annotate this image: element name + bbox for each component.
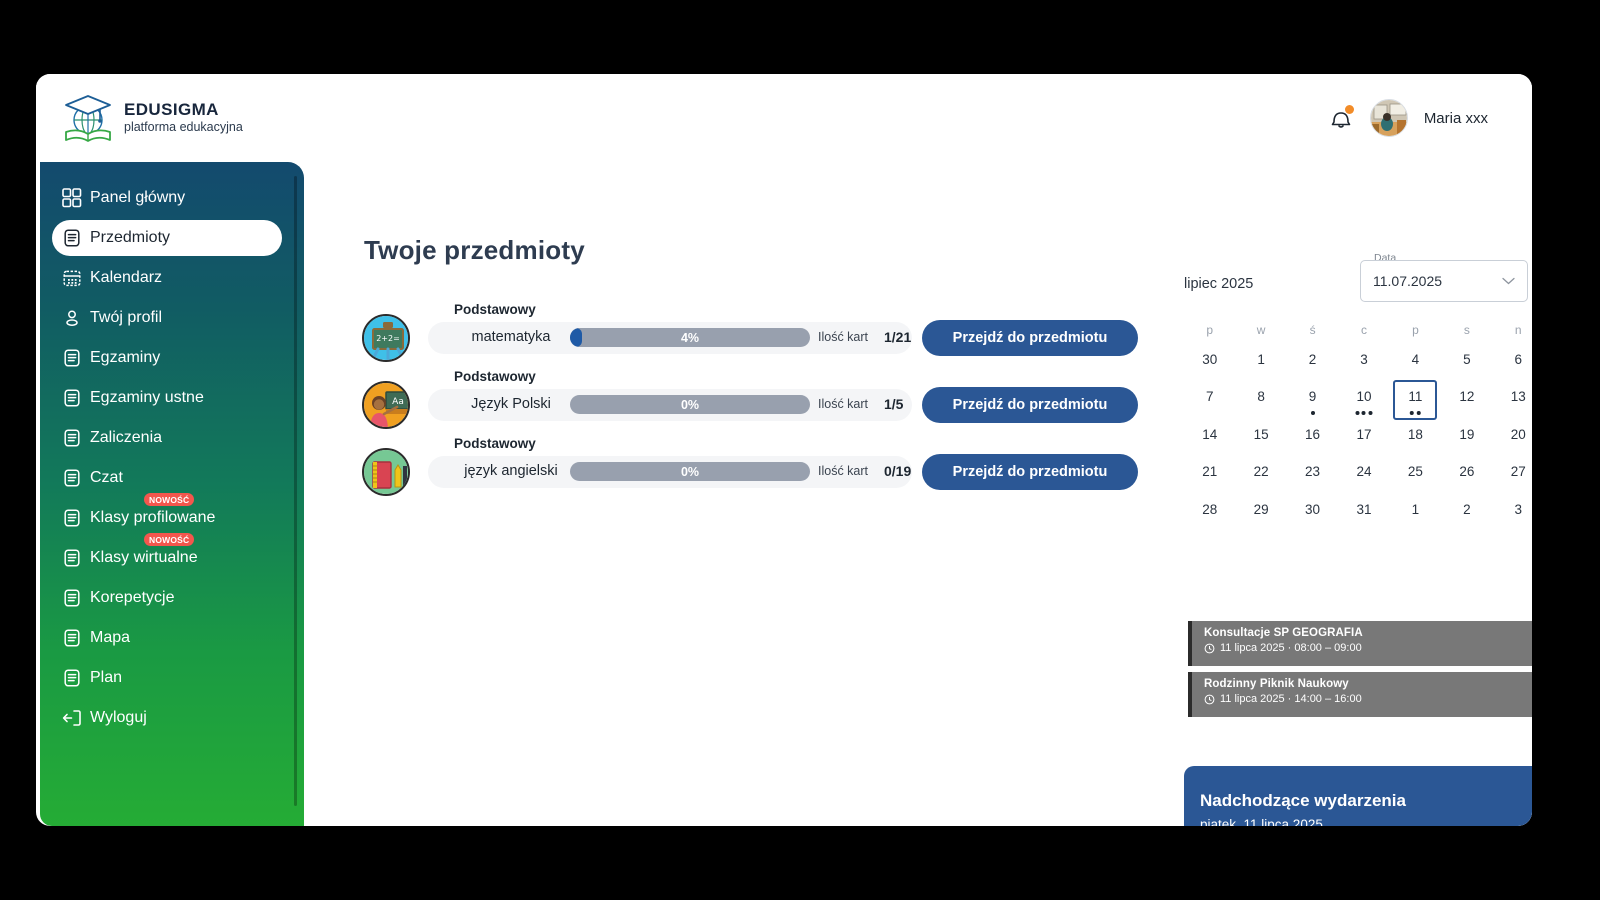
upcoming-events-date: piątek, 11 lipca 2025 [1200,817,1532,826]
sidebar-item-label: Plan [90,669,122,687]
chevron-down-icon [1502,277,1515,285]
sidebar-item-label: Egzaminy [90,349,160,367]
calendar-day-number: 30 [1202,352,1217,367]
calendar-day-number: 30 [1305,502,1320,517]
calendar-day[interactable]: 8 [1235,382,1286,420]
calendar-day[interactable]: 23 [1287,457,1338,495]
calendar-day-number: 1 [1412,502,1420,517]
subject-icon [362,448,410,496]
go-to-subject-button[interactable]: Przejdź do przedmiotu [922,320,1138,356]
event-card[interactable]: Rodzinny Piknik Naukowy11 lipca 2025 · 1… [1188,672,1532,717]
go-to-subject-button[interactable]: Przejdź do przedmiotu [922,454,1138,490]
subject-row: PodstawowyAaJęzyk Polski0%Ilość kart1/5P… [362,369,1152,436]
calendar-day-number: 31 [1356,502,1371,517]
sidebar-item-egzaminy[interactable]: Egzaminy [52,340,282,376]
calendar-day[interactable]: 4 [1390,344,1441,382]
calendar-event-dot [1362,411,1366,415]
calendar-day-number: 10 [1356,389,1371,404]
document-icon [62,668,82,688]
header-actions: Maria xxx [1328,99,1532,137]
sidebar-item-wyloguj[interactable]: Wyloguj [52,700,282,736]
subject-icon: Aa [362,381,410,429]
calendar-day[interactable]: 25 [1390,457,1441,495]
calendar-day-number: 28 [1202,502,1217,517]
event-card-list: Konsultacje SP GEOGRAFIA11 lipca 2025 · … [1188,621,1532,723]
calendar-weekday-header: p [1184,316,1235,344]
calendar-day-number: 17 [1356,427,1371,442]
upcoming-events-panel[interactable]: Nadchodzące wydarzenia piątek, 11 lipca … [1184,766,1532,826]
calendar-day-number: 12 [1459,389,1474,404]
upcoming-events-title: Nadchodzące wydarzenia [1200,791,1532,811]
document-icon [62,508,82,528]
calendar-event-dot [1417,411,1421,415]
calendar-day-number: 22 [1254,464,1269,479]
blackboard-math-icon: 2+2= [364,316,410,362]
page-title: Twoje przedmioty [364,235,585,266]
calendar-day[interactable]: 19 [1441,419,1492,457]
calendar-day[interactable]: 1 [1390,494,1441,532]
calendar-day[interactable]: 17 [1338,419,1389,457]
sidebar-item-label: Twój profil [90,309,162,327]
event-title: Konsultacje SP GEOGRAFIA [1204,627,1532,639]
calendar-day[interactable]: 3 [1338,344,1389,382]
sidebar-item-klasy-profilowane[interactable]: Klasy profilowaneNOWOŚĆ [52,500,282,536]
cards-count-value: 1/5 [884,396,903,412]
cards-count-value: 0/19 [884,463,911,479]
sidebar-item-przedmioty[interactable]: Przedmioty [52,220,282,256]
sidebar-item-mapa[interactable]: Mapa [52,620,282,656]
calendar-day[interactable]: 13 [1493,382,1532,420]
calendar-day-number: 23 [1305,464,1320,479]
calendar-day-number: 9 [1309,389,1317,404]
subject-level-label: Podstawowy [454,369,536,384]
go-to-subject-button[interactable]: Przejdź do przedmiotu [922,387,1138,423]
sidebar-item-label: Panel główny [90,189,185,207]
calendar-day[interactable]: 29 [1235,494,1286,532]
subject-row: Podstawowyjęzyk angielski0%Ilość kart0/1… [362,436,1152,503]
progress-percent-label: 0% [570,462,810,481]
notification-bell-button[interactable] [1328,104,1354,132]
sidebar-item-kalendarz[interactable]: Kalendarz [52,260,282,296]
calendar-day-number: 5 [1463,352,1471,367]
sidebar-item-zaliczenia[interactable]: Zaliczenia [52,420,282,456]
svg-text:2+2=: 2+2= [376,334,400,343]
calendar-day-number: 15 [1254,427,1269,442]
user-avatar-image [1371,100,1408,137]
logout-icon [62,708,82,728]
calendar-weekday-header: s [1441,316,1492,344]
event-time-label: 11 lipca 2025 · 08:00 – 09:00 [1220,642,1362,654]
event-card[interactable]: Konsultacje SP GEOGRAFIA11 lipca 2025 · … [1188,621,1532,666]
sidebar-item-czat[interactable]: Czat [52,460,282,496]
main-content: Twoje przedmioty Podstawowy2+2=matematyk… [304,162,1532,826]
sidebar-item-label: Klasy profilowane [90,509,215,527]
subject-name-label: matematyka [446,329,576,345]
sidebar-item-label: Korepetycje [90,589,175,607]
calendar-day-number: 14 [1202,427,1217,442]
calendar-weekday-header: ś [1287,316,1338,344]
grid-icon [62,188,82,208]
avatar[interactable] [1370,99,1408,137]
calendar-day-number: 16 [1305,427,1320,442]
calendar-day-number: 7 [1206,389,1214,404]
calendar-day-number: 20 [1511,427,1526,442]
cards-count-value: 1/21 [884,329,911,345]
calendar-day-number: 29 [1254,502,1269,517]
sidebar-item-label: Przedmioty [90,229,170,247]
calendar-day[interactable]: 15 [1235,419,1286,457]
calendar-day[interactable]: 2 [1287,344,1338,382]
sidebar-item-label: Czat [90,469,123,487]
calendar-event-dot [1311,411,1315,415]
sidebar-item-label: Klasy wirtualne [90,549,198,567]
calendar-day-number: 8 [1257,389,1265,404]
clock-icon [1204,694,1215,705]
subject-list: Podstawowy2+2=matematyka4%Ilość kart1/21… [362,302,1152,503]
calendar-weekday-header: w [1235,316,1286,344]
document-icon [62,228,82,248]
calendar-day[interactable]: 5 [1441,344,1492,382]
calendar-day-number: 11 [1408,389,1422,404]
event-time-row: 11 lipca 2025 · 08:00 – 09:00 [1204,642,1532,654]
cards-count-label: Ilość kart [818,397,868,411]
subject-level-label: Podstawowy [454,302,536,317]
subject-level-label: Podstawowy [454,436,536,451]
brand-subtitle: platforma edukacyjna [124,119,243,135]
calendar-day[interactable]: 30 [1287,494,1338,532]
brand-title: EDUSIGMA [124,101,243,120]
sidebar-item-panel-główny[interactable]: Panel główny [52,180,282,216]
notification-dot [1345,105,1354,114]
user-name-label: Maria xxx [1424,110,1488,127]
calendar-day-number: 27 [1511,464,1526,479]
calendar-day[interactable]: 18 [1390,419,1441,457]
sidebar-scrollbar[interactable] [294,176,297,806]
document-icon [62,468,82,488]
sidebar-item-klasy-wirtualne[interactable]: Klasy wirtualneNOWOŚĆ [52,540,282,576]
calendar-day[interactable]: 2 [1441,494,1492,532]
calendar-day[interactable]: 10 [1338,382,1389,420]
sidebar-item-label: Zaliczenia [90,429,162,447]
calendar-day-number: 6 [1515,352,1523,367]
new-badge: NOWOŚĆ [144,493,194,506]
calendar-day[interactable]: 3 [1493,494,1532,532]
sidebar-item-label: Mapa [90,629,130,647]
calendar-day[interactable]: 20 [1493,419,1532,457]
calendar-day[interactable]: 26 [1441,457,1492,495]
calendar-day-number: 25 [1408,464,1423,479]
top-header-bar: EDUSIGMA platforma edukacyjna [36,74,1532,162]
date-picker-input[interactable]: 11.07.2025 [1360,260,1528,302]
calendar-day-number: 19 [1459,427,1474,442]
calendar-day-number: 26 [1459,464,1474,479]
calendar-weekday-header: n [1493,316,1532,344]
calendar-day[interactable]: 12 [1441,382,1492,420]
cards-count-label: Ilość kart [818,464,868,478]
calendar-day[interactable]: 21 [1184,457,1235,495]
calendar-day-number: 21 [1202,464,1217,479]
calendar-day[interactable]: 31 [1338,494,1389,532]
subject-name-label: Język Polski [446,396,576,412]
calendar-day[interactable]: 9 [1287,382,1338,420]
document-icon [62,548,82,568]
brand-logo-block[interactable]: EDUSIGMA platforma edukacyjna [36,90,243,146]
calendar-day-number: 1 [1257,352,1265,367]
calendar-day-number: 13 [1511,389,1526,404]
sidebar-item-label: Wyloguj [90,709,147,727]
calendar-month-label: lipiec 2025 [1184,276,1253,292]
calendar-weekday-header: p [1390,316,1441,344]
sidebar-item-korepetycje[interactable]: Korepetycje [52,580,282,616]
calendar-day-selected[interactable]: 11 [1390,382,1441,420]
calendar-day-event-dots [1355,411,1372,415]
calendar-day[interactable]: 14 [1184,419,1235,457]
calendar-day-number: 2 [1463,502,1471,517]
calendar-icon [62,268,82,288]
sidebar-item-label: Egzaminy ustne [90,389,204,407]
calendar-day-number: 24 [1356,464,1371,479]
progress-percent-label: 4% [570,328,810,347]
graduation-globe-book-logo [62,90,114,146]
event-title: Rodzinny Piknik Naukowy [1204,678,1532,690]
document-icon [62,428,82,448]
cards-count-label: Ilość kart [818,330,868,344]
calendar-event-dot [1410,411,1414,415]
calendar-event-dot [1368,411,1372,415]
new-badge: NOWOŚĆ [144,533,194,546]
sidebar-item-twój-profil[interactable]: Twój profil [52,300,282,336]
calendar-day[interactable]: 7 [1184,382,1235,420]
person-icon [62,308,82,328]
calendar-weekday-header: c [1338,316,1389,344]
calendar-day-event-dots [1311,411,1315,415]
subject-row: Podstawowy2+2=matematyka4%Ilość kart1/21… [362,302,1152,369]
clock-icon [1204,643,1215,654]
calendar-day-event-dots [1410,411,1421,415]
event-time-label: 11 lipca 2025 · 14:00 – 16:00 [1220,693,1362,705]
calendar-day-number: 18 [1408,427,1423,442]
sidebar-item-list: Panel głównyPrzedmiotyKalendarzTwój prof… [40,180,304,736]
date-picker-value: 11.07.2025 [1373,273,1442,289]
teacher-board-icon: Aa [364,383,410,429]
sidebar-item-plan[interactable]: Plan [52,660,282,696]
books-pencils-icon [364,450,410,496]
calendar-day[interactable]: 28 [1184,494,1235,532]
calendar-day[interactable]: 30 [1184,344,1235,382]
calendar-grid: pwścpsn301234567891011121314151617181920… [1184,316,1532,532]
calendar-day-number: 3 [1515,502,1523,517]
calendar-day[interactable]: 27 [1493,457,1532,495]
progress-percent-label: 0% [570,395,810,414]
event-time-row: 11 lipca 2025 · 14:00 – 16:00 [1204,693,1532,705]
calendar-day[interactable]: 24 [1338,457,1389,495]
calendar-day-number: 2 [1309,352,1317,367]
calendar-day[interactable]: 1 [1235,344,1286,382]
subject-name-label: język angielski [446,463,576,479]
calendar-day[interactable]: 6 [1493,344,1532,382]
svg-text:Aa: Aa [392,397,404,407]
document-icon [62,628,82,648]
calendar-day[interactable]: 16 [1287,419,1338,457]
document-icon [62,388,82,408]
document-icon [62,348,82,368]
calendar-day-number: 3 [1360,352,1368,367]
app-window: EDUSIGMA platforma edukacyjna [36,74,1532,826]
calendar-event-dot [1355,411,1359,415]
sidebar-item-egzaminy-ustne[interactable]: Egzaminy ustne [52,380,282,416]
calendar-day-number: 4 [1412,352,1420,367]
calendar-day[interactable]: 22 [1235,457,1286,495]
sidebar-navigation: Panel głównyPrzedmiotyKalendarzTwój prof… [40,162,304,826]
sidebar-item-label: Kalendarz [90,269,162,287]
document-icon [62,588,82,608]
subject-icon: 2+2= [362,314,410,362]
